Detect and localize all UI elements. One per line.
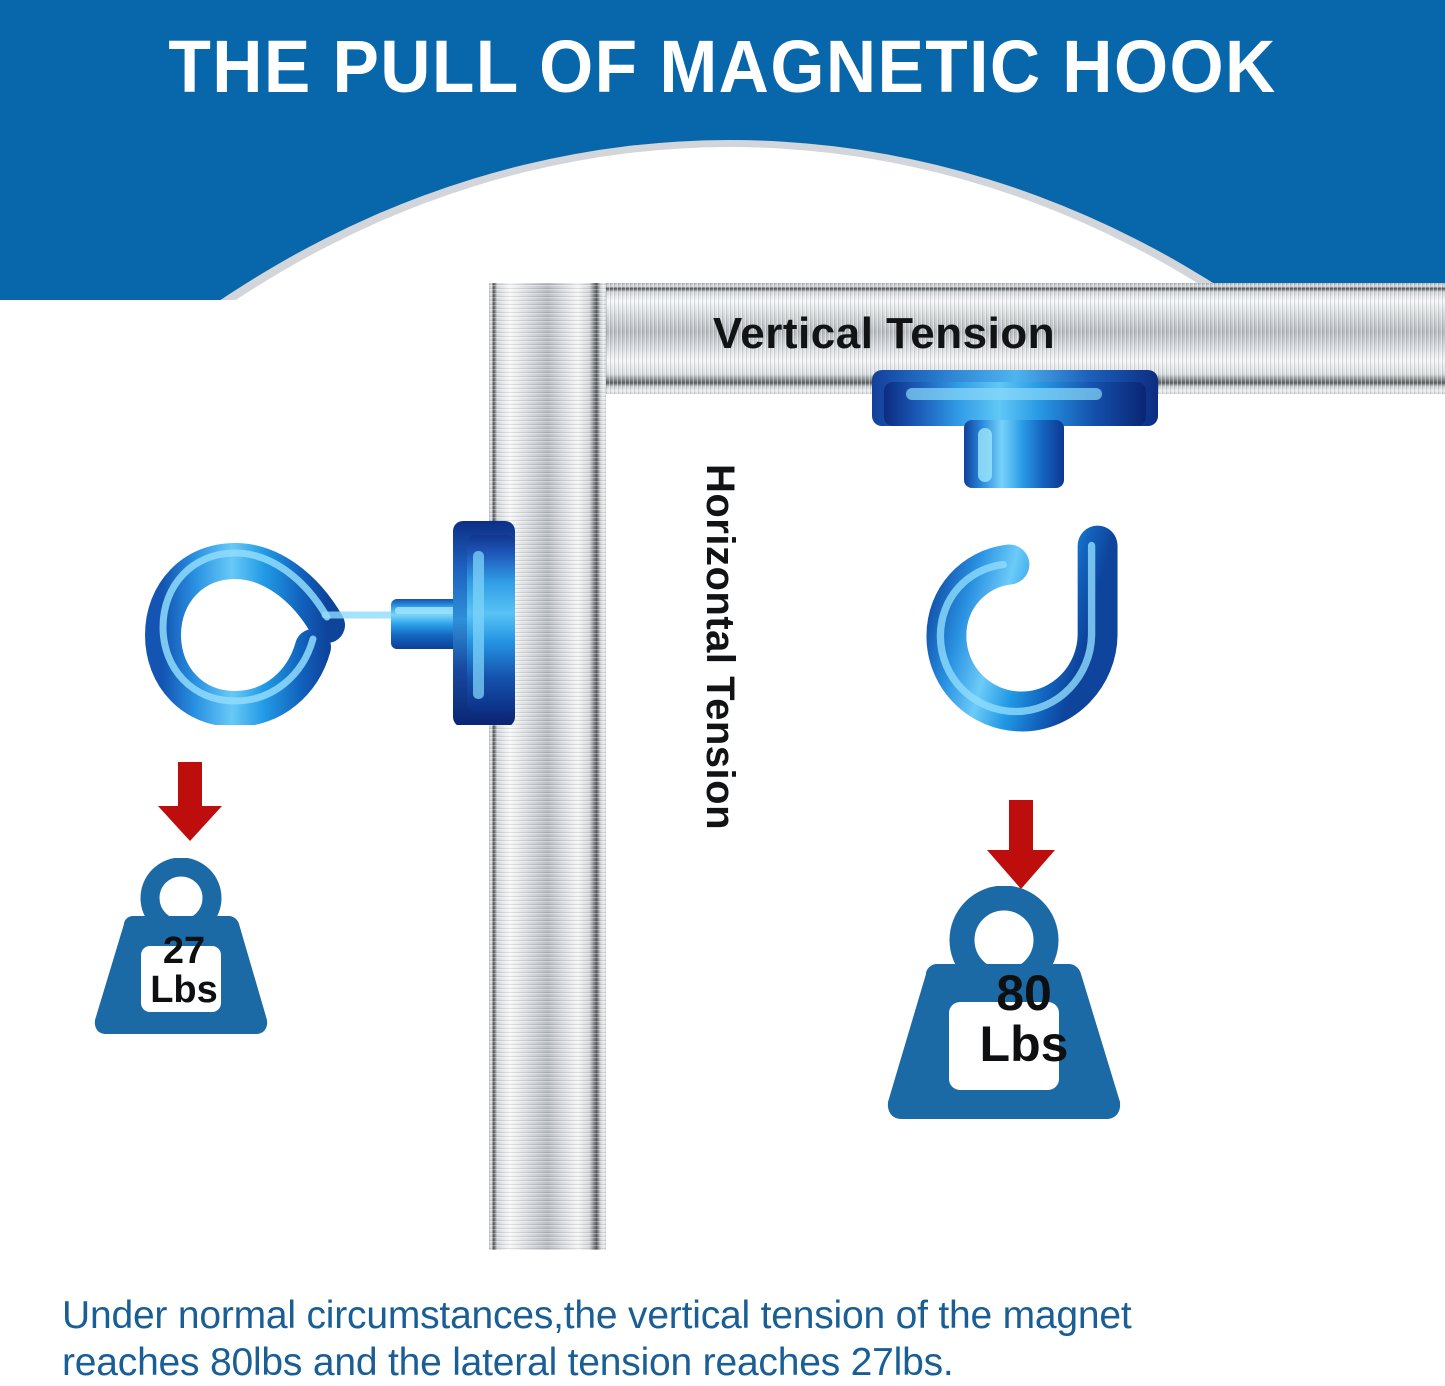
header-banner: THE PULL OF MAGNETIC HOOK [0,0,1445,300]
caption: Under normal circumstances,the vertical … [62,1292,1392,1386]
vertical-steel-beam [489,283,606,1250]
horizontal-hook-icon [75,495,525,725]
vertical-weight-unit: Lbs [940,1019,1108,1070]
vertical-weight-label: 80 Lbs [940,968,1108,1070]
vertical-force-arrow-icon [985,800,1057,895]
caption-line-2: reaches 80lbs and the lateral tension re… [62,1339,1392,1386]
horizontal-weight-label: 27 Lbs [120,932,248,1010]
vertical-tension-label: Vertical Tension [489,303,1279,365]
page-title: THE PULL OF MAGNETIC HOOK [43,27,1401,107]
horizontal-weight-value: 27 [120,932,248,971]
caption-line-1: Under normal circumstances,the vertical … [62,1292,1392,1339]
vertical-hook-icon [860,368,1180,788]
horizontal-force-arrow-icon [156,762,224,847]
horizontal-weight-unit: Lbs [120,971,248,1010]
vertical-magnetic-hook [860,368,1180,788]
vertical-weight-value: 80 [940,968,1108,1019]
horizontal-tension-label: Horizontal Tension [690,367,750,927]
horizontal-magnetic-hook [75,495,525,725]
